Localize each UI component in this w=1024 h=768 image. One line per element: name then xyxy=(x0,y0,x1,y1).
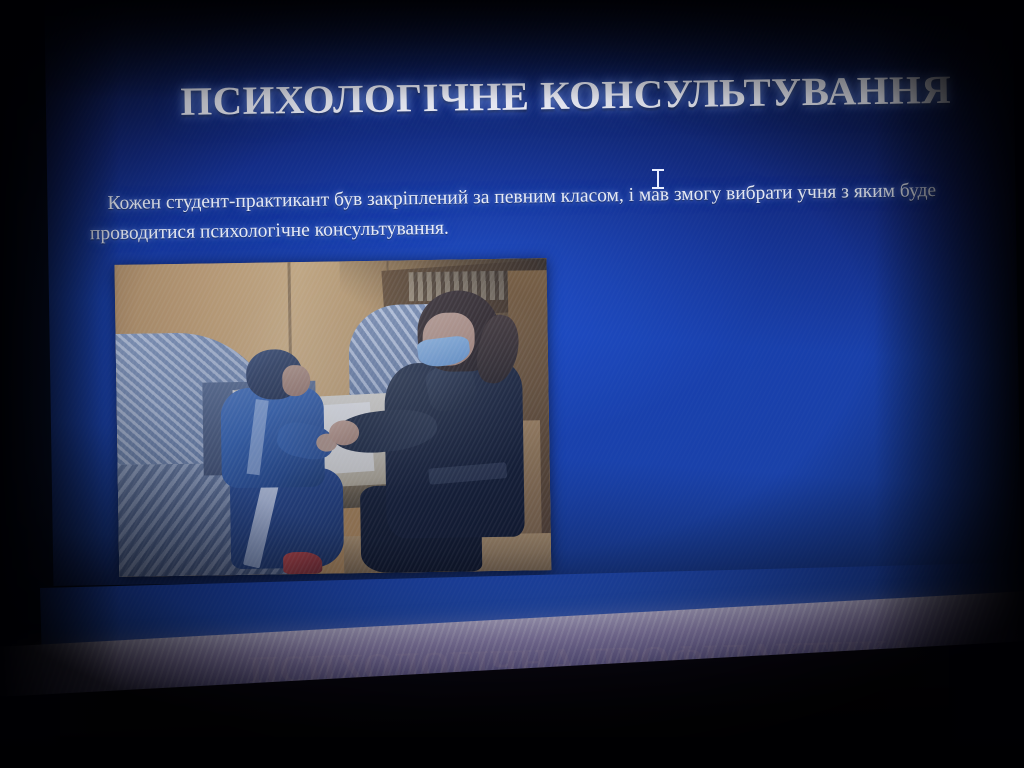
photo-screen-glare xyxy=(114,258,551,577)
slide-photo-counseling-session[interactable] xyxy=(114,258,551,577)
presentation-slide-current[interactable]: ПСИХОЛОГІЧНЕ КОНСУЛЬТУВАННЯ Кожен студен… xyxy=(44,0,1021,586)
slide-body-text: Кожен студент-практикант був закріплений… xyxy=(89,175,995,248)
screen-photo-stage: ПСИХОЛОГІЧНЕ КОНСУЛЬТУВАННЯ Кожен студен… xyxy=(0,0,1024,768)
slide-title: ПСИХОЛОГІЧНЕ КОНСУЛЬТУВАННЯ xyxy=(158,65,975,125)
